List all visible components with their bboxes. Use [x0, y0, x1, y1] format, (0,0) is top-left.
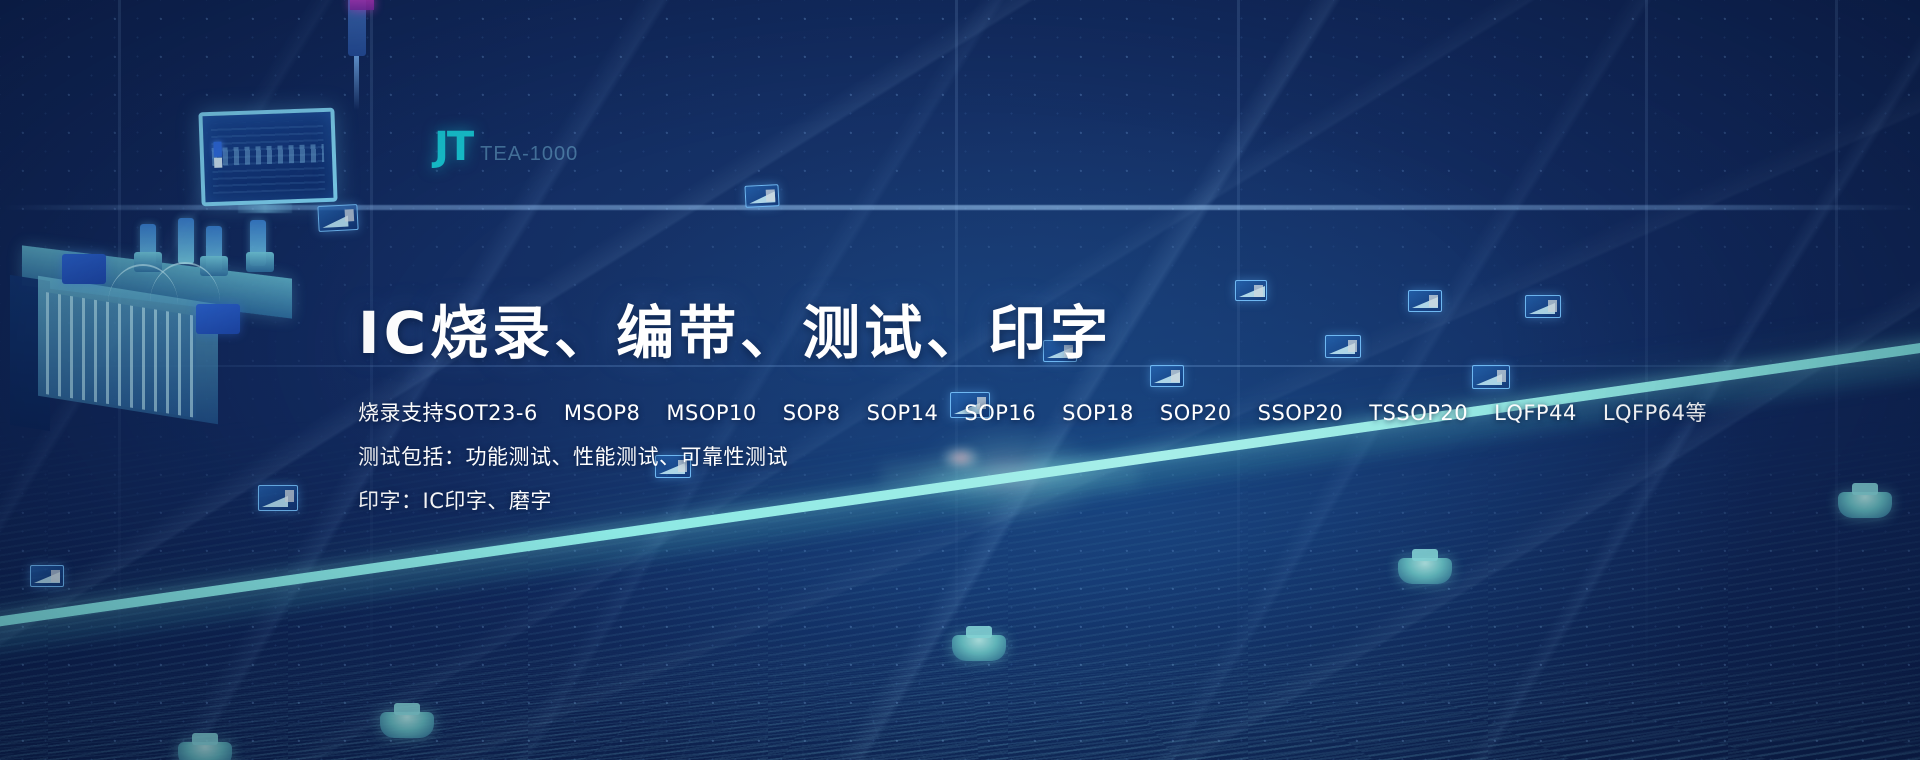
chip-marker-icon: [744, 184, 779, 208]
rail-support-foot: [952, 635, 1006, 661]
package-ssop20: SSOP20: [1258, 403, 1344, 424]
package-list: 烧录支持SOT23-6 MSOP8 MSOP10 SOP8 SOP14 SOP1…: [358, 403, 1707, 424]
chip-marker-icon: [317, 204, 358, 232]
page-title: IC烧录、编带、测试、印字: [358, 300, 1638, 367]
machine-control-box: [196, 304, 240, 334]
rail-support-foot: [1398, 558, 1452, 584]
banner-detail-lines: 烧录支持SOT23-6 MSOP8 MSOP10 SOP8 SOP14 SOP1…: [358, 403, 1638, 512]
package-tssop20: TSSOP20: [1369, 403, 1468, 424]
package-sop16: SOP16: [964, 403, 1036, 424]
rail-support-foot: [380, 712, 434, 738]
package-msop8: MSOP8: [564, 403, 641, 424]
package-sop18: SOP18: [1062, 403, 1134, 424]
brand-logo-mark: JT: [434, 124, 472, 170]
rail-support-foot: [1838, 492, 1892, 518]
chip-marker-icon: [1235, 280, 1267, 301]
gantry-indicator-icon: [350, 0, 374, 10]
package-lqfp64: LQFP64等: [1603, 403, 1707, 424]
rail-support-foot: [178, 742, 232, 760]
hero-banner: JT TEA-1000 IC烧录、: [0, 0, 1920, 760]
chip-marker-icon: [30, 565, 64, 587]
burn-support-label: 烧录支持SOT23-6: [358, 403, 538, 424]
package-sop20: SOP20: [1160, 403, 1232, 424]
gantry-laser-beam: [354, 56, 359, 110]
monitor-led-indicator: [213, 142, 222, 157]
control-monitor-icon: [198, 108, 337, 207]
monitor-screen-content: [211, 120, 325, 194]
machine-control-box: [62, 254, 106, 284]
banner-content: IC烧录、编带、测试、印字 烧录支持SOT23-6 MSOP8 MSOP10 S…: [358, 300, 1638, 535]
brand-logo: JT TEA-1000: [434, 124, 578, 170]
room-pillar: [1645, 0, 1648, 760]
marking-line: 印字：IC印字、磨字: [358, 491, 1638, 512]
burn-support-line: 烧录支持SOT23-6 MSOP8 MSOP10 SOP8 SOP14 SOP1…: [358, 403, 1638, 424]
ic-handler-machine-icon: [10, 218, 310, 448]
test-scope-line: 测试包括：功能测试、性能测试、可靠性测试: [358, 447, 1638, 468]
chip-marker-icon: [258, 485, 298, 511]
package-lqfp44: LQFP44: [1494, 403, 1577, 424]
machine-actuator: [178, 218, 194, 264]
brand-model-text: TEA-1000: [480, 143, 578, 166]
machine-actuator-cap: [246, 252, 274, 272]
package-msop10: MSOP10: [666, 403, 756, 424]
monitor-led-indicator-secondary: [214, 158, 222, 168]
monitor-stand: [238, 204, 292, 213]
package-sop8: SOP8: [783, 403, 841, 424]
package-sop14: SOP14: [867, 403, 939, 424]
